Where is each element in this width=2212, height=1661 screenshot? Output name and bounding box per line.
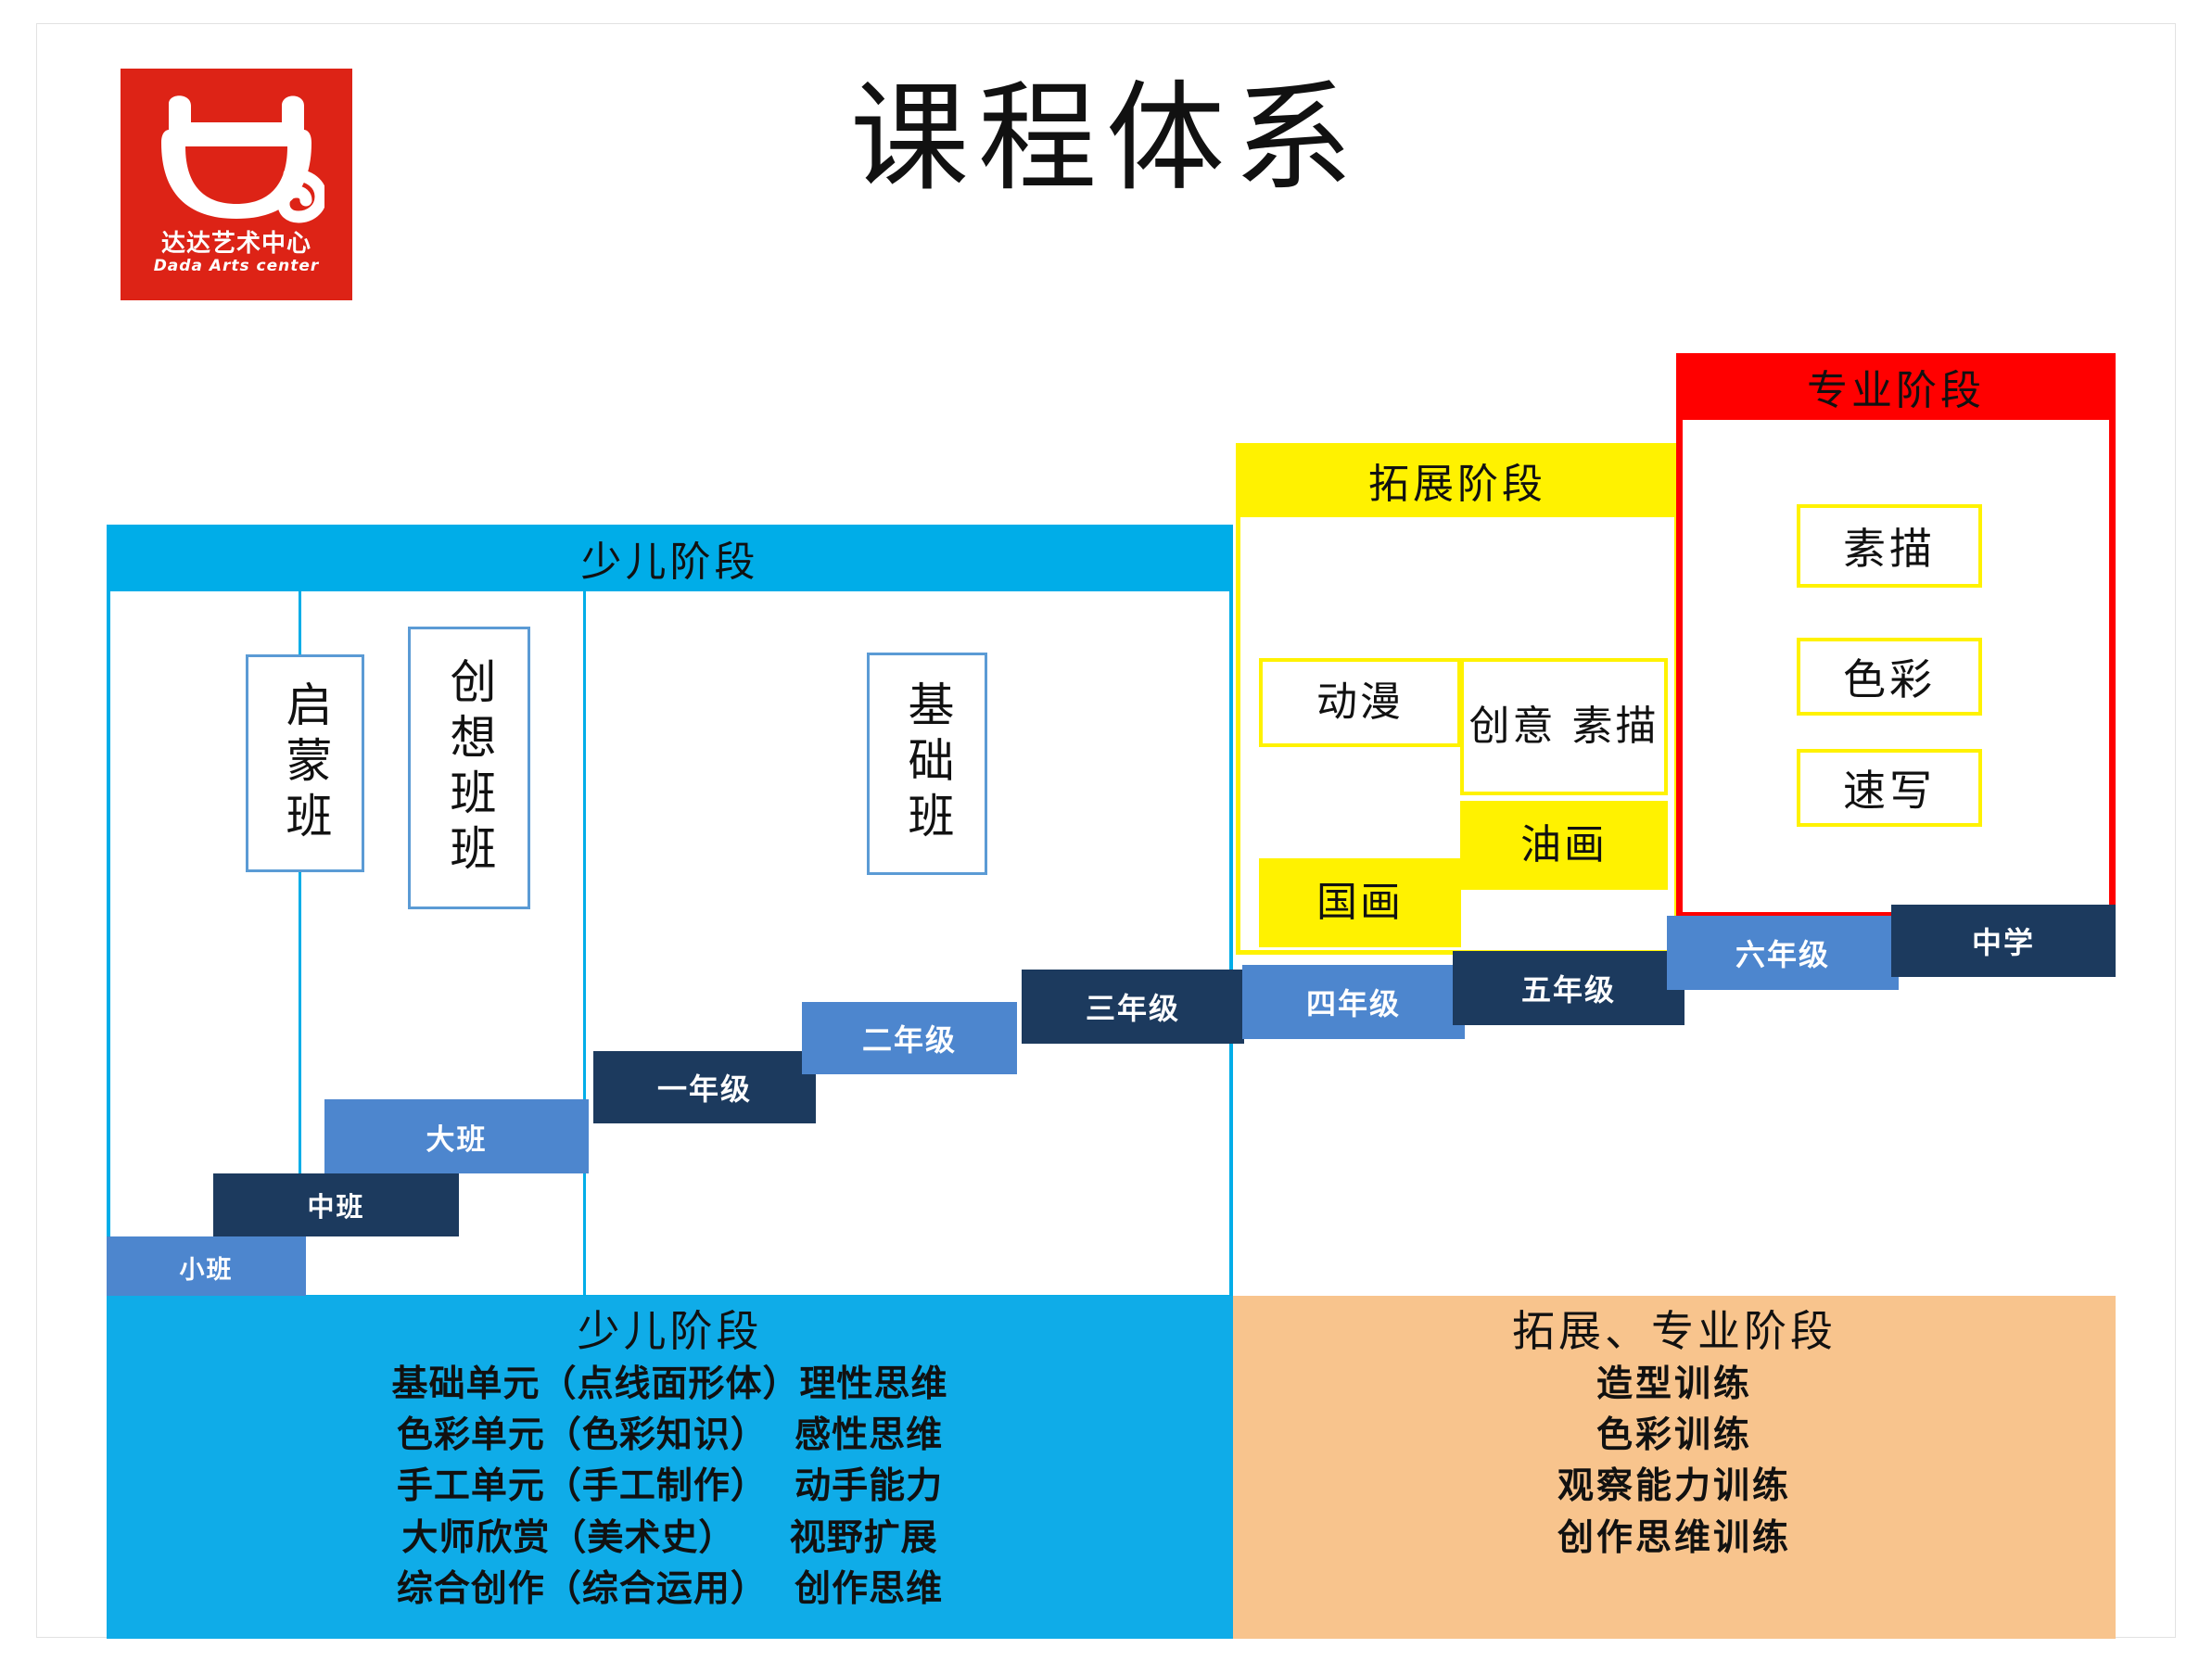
- class-chip-label: 启蒙班: [280, 680, 331, 847]
- logo-english-name: Dada Arts center: [154, 259, 320, 274]
- summary-line: 基础单元（点线面形体）理性思维: [391, 1359, 947, 1410]
- logo-chinese-name: 达达艺术中心: [161, 232, 311, 256]
- step-grade-3[interactable]: 三年级: [1022, 970, 1244, 1044]
- step-grade-4[interactable]: 四年级: [1242, 965, 1465, 1039]
- course-chip-suxie[interactable]: 速写: [1797, 749, 1982, 827]
- course-chip-youhua[interactable]: 油画: [1460, 801, 1668, 890]
- slide-canvas: 达达艺术中心 Dada Arts center 课程体系 少儿阶段 启蒙班 创想…: [37, 24, 2175, 1637]
- step-daban[interactable]: 大班: [324, 1099, 589, 1173]
- class-chip-jichu[interactable]: 基础班: [867, 653, 987, 875]
- summary-panel-advanced: 拓展、专业阶段 造型训练 色彩训练 观察能力训练 创作思维训练: [1233, 1296, 2116, 1639]
- stage-extension-header: 拓展阶段: [1236, 443, 1679, 517]
- course-chip-dongman[interactable]: 动漫: [1259, 658, 1461, 747]
- summary-line: 大师欣赏（美术史） 视野扩展: [401, 1513, 937, 1564]
- course-chip-secai[interactable]: 色彩: [1797, 638, 1982, 716]
- summary-panels: 少儿阶段 基础单元（点线面形体）理性思维 色彩单元（色彩知识） 感性思维 手工单…: [107, 1296, 2116, 1639]
- summary-line: 综合创作（综合运用） 创作思维: [397, 1564, 943, 1615]
- page-title: 课程体系: [37, 70, 2175, 207]
- course-chip-sumiao[interactable]: 素描: [1797, 504, 1982, 588]
- step-grade-2[interactable]: 二年级: [802, 1002, 1017, 1074]
- stage-kids-header: 少儿阶段: [107, 525, 1233, 591]
- summary-line: 造型训练: [1596, 1359, 1752, 1410]
- summary-line: 观察能力训练: [1557, 1461, 1791, 1512]
- step-grade-1[interactable]: 一年级: [593, 1051, 816, 1123]
- summary-line: 创作思维训练: [1557, 1513, 1791, 1564]
- kids-divider-2: [583, 591, 586, 1295]
- step-grade-6[interactable]: 六年级: [1667, 916, 1899, 990]
- step-grade-5[interactable]: 五年级: [1453, 951, 1684, 1025]
- step-zhongban[interactable]: 中班: [213, 1173, 459, 1236]
- summary-panel-kids-title: 少儿阶段: [578, 1305, 763, 1359]
- summary-line: 色彩单元（色彩知识） 感性思维: [397, 1410, 943, 1461]
- class-chip-chuangxiang[interactable]: 创想班班: [408, 627, 530, 909]
- course-chip-chuangyi-sumiao[interactable]: 创意 素描: [1460, 658, 1668, 795]
- summary-panel-advanced-title: 拓展、专业阶段: [1512, 1305, 1837, 1359]
- summary-panel-kids: 少儿阶段 基础单元（点线面形体）理性思维 色彩单元（色彩知识） 感性思维 手工单…: [107, 1296, 1233, 1639]
- course-chip-guohua[interactable]: 国画: [1259, 858, 1461, 947]
- summary-line: 手工单元（手工制作） 动手能力: [397, 1461, 943, 1512]
- stage-professional-header: 专业阶段: [1676, 353, 2116, 420]
- step-zhongxue[interactable]: 中学: [1891, 905, 2116, 977]
- class-chip-qimeng[interactable]: 启蒙班: [246, 654, 364, 872]
- step-xiaoban[interactable]: 小班: [107, 1236, 306, 1298]
- stage-professional: 专业阶段: [1676, 353, 2116, 919]
- summary-line: 色彩训练: [1596, 1410, 1752, 1461]
- class-chip-label: 创想班班: [444, 657, 495, 880]
- slide-root: 达达艺术中心 Dada Arts center 课程体系 少儿阶段 启蒙班 创想…: [0, 0, 2212, 1661]
- class-chip-label: 基础班: [902, 680, 953, 847]
